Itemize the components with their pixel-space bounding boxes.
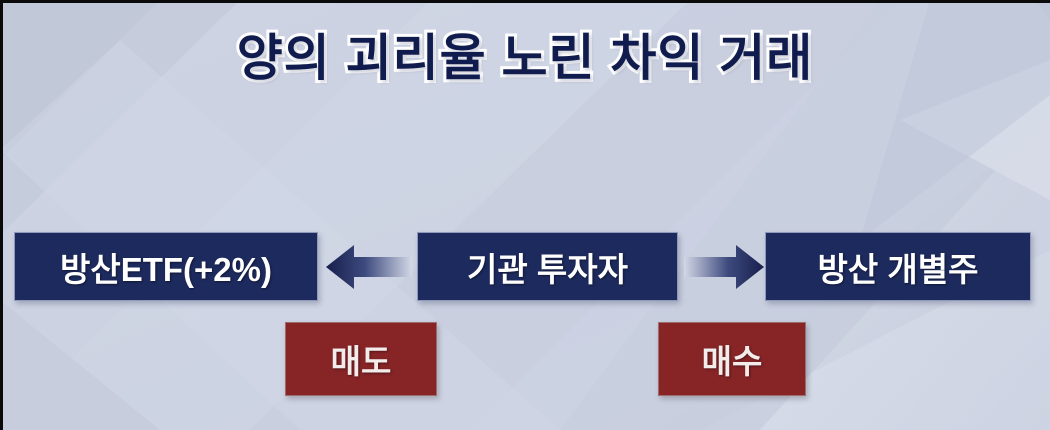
arrow-left-icon (326, 243, 412, 291)
frame-top-border (0, 0, 1050, 3)
arrow-right-svg (684, 243, 764, 291)
node-institutional-investor-label: 기관 투자자 (467, 243, 628, 291)
action-sell-label: 매도 (331, 335, 392, 383)
action-buy-label: 매수 (702, 335, 763, 383)
arrow-right-icon (684, 243, 764, 291)
frame-left-border (0, 0, 3, 430)
infographic-canvas: 양의 괴리율 노린 차익 거래 방산ETF(+2%) 기관 투자자 (0, 0, 1050, 430)
action-buy: 매수 (658, 322, 806, 396)
node-defense-etf-label: 방산ETF(+2%) (60, 243, 272, 291)
arrow-left-svg (326, 243, 412, 291)
page-title: 양의 괴리율 노린 차익 거래 (0, 18, 1050, 90)
node-defense-individual-stocks: 방산 개별주 (765, 232, 1031, 301)
node-defense-etf: 방산ETF(+2%) (14, 232, 318, 301)
action-sell: 매도 (285, 322, 437, 396)
node-defense-individual-stocks-label: 방산 개별주 (818, 243, 979, 291)
node-institutional-investor: 기관 투자자 (417, 232, 678, 301)
